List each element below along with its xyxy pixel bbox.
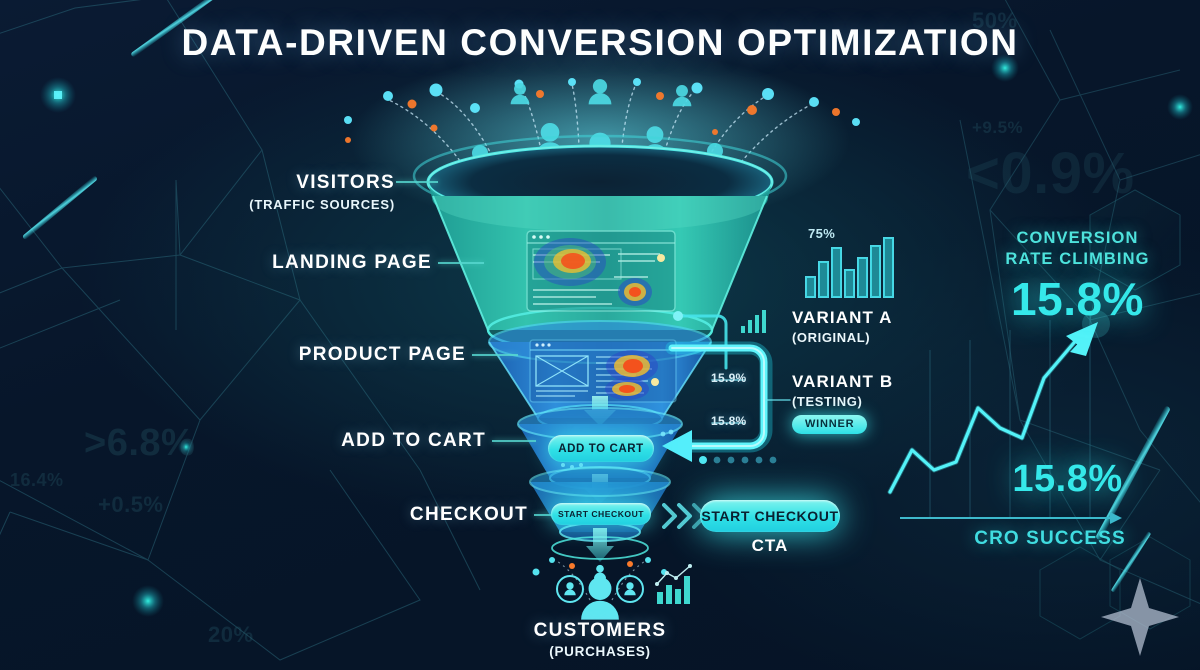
variant-a-label: VARIANT A (ORIGINAL) [792,308,893,345]
stage-label-landing-page: LANDING PAGE [180,252,432,274]
stage-title: PRODUCT PAGE [210,344,466,366]
variant-a-title: VARIANT A [792,308,893,328]
leader-visitors [396,181,438,183]
variant-b-subtitle: (TESTING) [792,394,893,409]
label-leaders [0,0,1200,670]
winner-badge: WINNER [792,415,867,434]
variant-b-label: VARIANT B (TESTING) WINNER [792,372,893,434]
cta-start-checkout-button[interactable]: START CHECKOUT [700,500,840,532]
growth-chart-caption: CRO SUCCESS [920,528,1180,550]
variant-b-title: VARIANT B [792,372,893,392]
start-checkout-button[interactable]: START CHECKOUT [551,503,651,525]
stage-label-checkout: CHECKOUT [300,504,528,526]
cta-caption: CTA [700,536,840,556]
stage-label-product-page: PRODUCT PAGE [210,344,466,366]
stage-title: LANDING PAGE [180,252,432,274]
add-to-cart-button[interactable]: ADD TO CART [548,435,654,462]
variant-a-subtitle: (ORIGINAL) [792,330,893,345]
variant-b-value: 15.8% [711,414,747,428]
leader-landing [438,262,484,264]
customers-label: CUSTOMERS (PURCHASES) [470,620,730,659]
variant-a-value: 15.9% [711,371,747,385]
stage-title: CHECKOUT [300,504,528,526]
growth-chart-value: 15.8% [960,458,1175,501]
metrics-panel-title: CONVERSION RATE CLIMBING [960,228,1195,270]
leader-cart [492,440,536,442]
customers-title: CUSTOMERS [470,620,730,642]
stage-title: VISITORS [150,172,395,194]
customers-subtitle: (PURCHASES) [470,644,730,659]
stage-label-add-to-cart: ADD TO CART [240,430,486,452]
stage-label-visitors: VISITORS (TRAFFIC SOURCES) [150,172,395,212]
stage-title: ADD TO CART [240,430,486,452]
stage-subtitle: (TRAFFIC SOURCES) [150,197,395,212]
mini-bar-chart-label: 75% [808,226,835,241]
metrics-panel-value: 15.8% [960,272,1195,326]
metrics-title-line1: CONVERSION [1017,229,1139,247]
leader-product [472,354,518,356]
metrics-title-line2: RATE CLIMBING [1005,250,1149,268]
